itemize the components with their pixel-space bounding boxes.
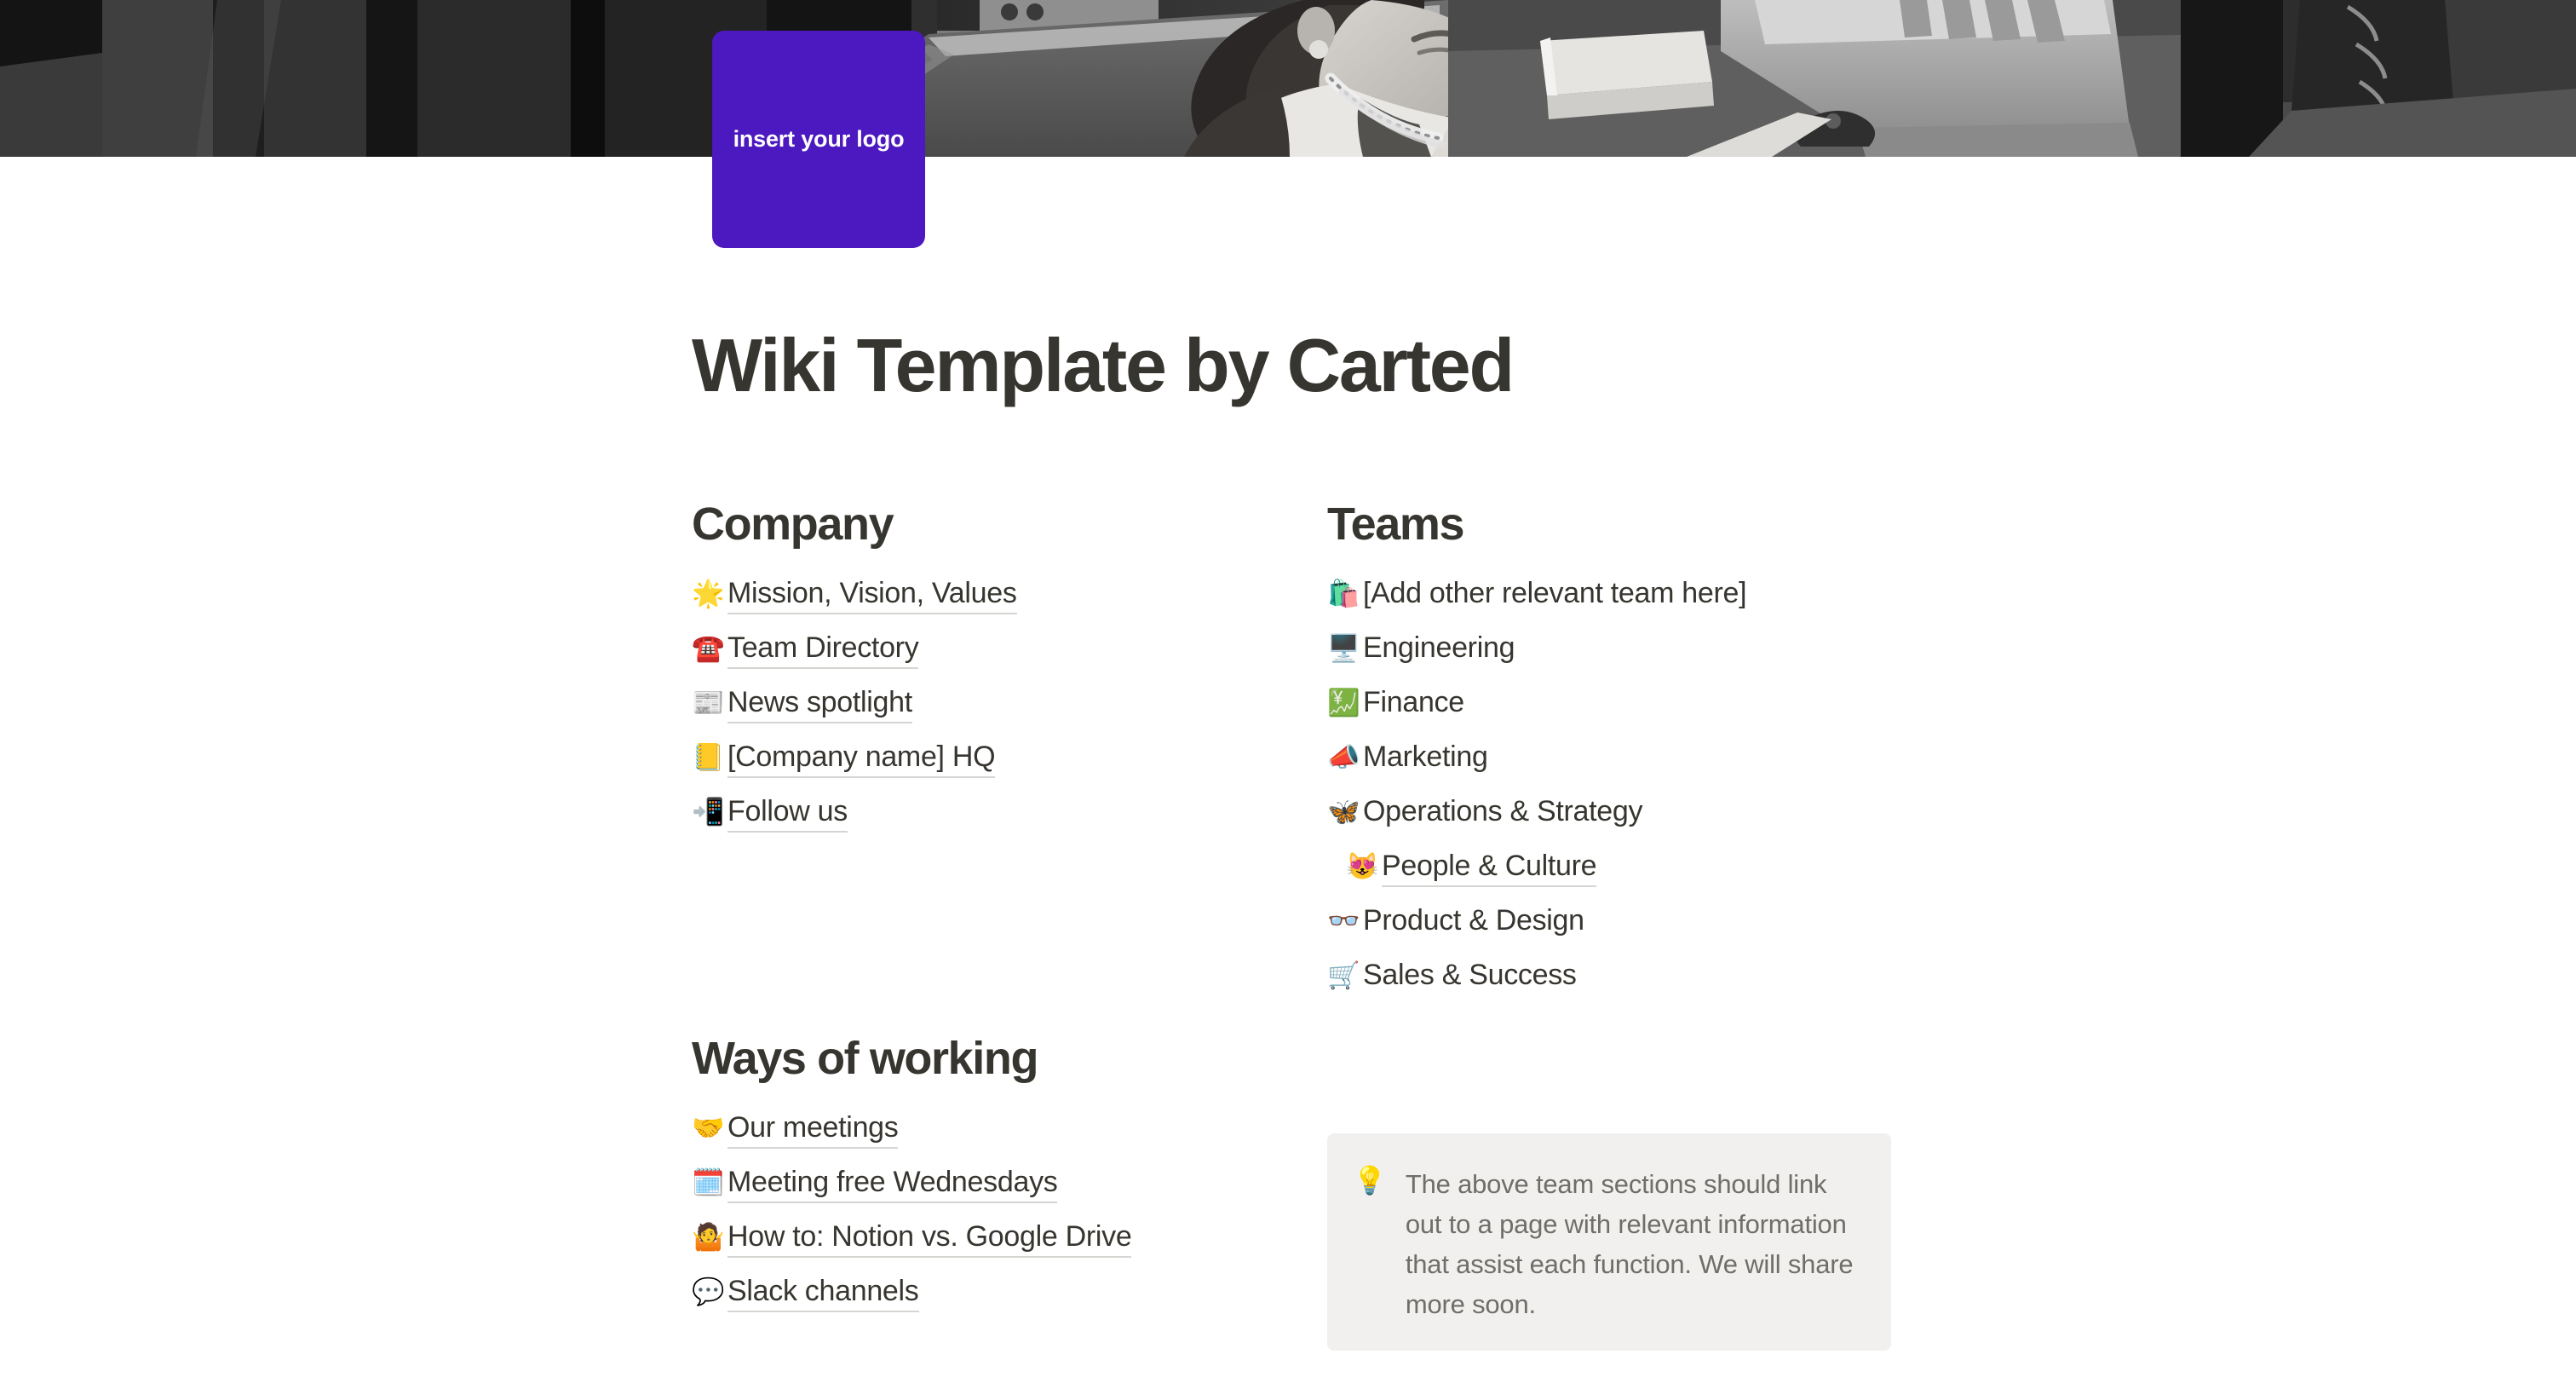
spiral-calendar-icon: 🗓️ (692, 1169, 727, 1196)
handshake-icon: 🤝 (692, 1115, 727, 1141)
banner-photo (0, 0, 2576, 157)
ledger-icon: 📒 (692, 744, 727, 770)
shopping-bags-icon: 🛍️ (1327, 580, 1363, 607)
mobile-phone-with-arrow-icon: 📲 (692, 798, 727, 825)
megaphone-icon: 📣 (1327, 744, 1363, 770)
person-shrugging-icon: 🤷 (692, 1224, 727, 1250)
link-item-label: [Company name] HQ (727, 741, 995, 778)
link-list-company: 🌟Mission, Vision, Values☎️Team Directory… (692, 577, 1288, 850)
link-item[interactable]: 🤷How to: Notion vs. Google Drive (692, 1220, 1288, 1275)
link-item[interactable]: 😻People & Culture (1327, 850, 1923, 904)
link-list-ways-of-working: 🤝Our meetings🗓️Meeting free Wednesdays🤷H… (692, 1111, 1288, 1329)
link-item-label: Our meetings (727, 1111, 898, 1149)
telephone-icon: ☎️ (692, 635, 727, 661)
link-item[interactable]: 🛒Sales & Success (1327, 959, 1923, 1013)
section-teams: Teams 🛍️[Add other relevant team here]🖥️… (1327, 499, 1923, 1013)
link-item[interactable]: 🖥️Engineering (1327, 631, 1923, 686)
link-item-label: Marketing (1363, 741, 1488, 776)
link-item-label: How to: Notion vs. Google Drive (727, 1220, 1131, 1258)
smiling-cat-with-heart-eyes-icon: 😻 (1346, 853, 1382, 879)
section-ways-of-working: Ways of working 🤝Our meetings🗓️Meeting f… (692, 1034, 1288, 1329)
link-item[interactable]: 🛍️[Add other relevant team here] (1327, 577, 1923, 631)
speech-balloon-icon: 💬 (692, 1278, 727, 1305)
link-item-label: Product & Design (1363, 904, 1584, 940)
logo-placeholder[interactable]: insert your logo (712, 31, 925, 248)
link-item-label: Follow us (727, 795, 848, 833)
callout-box: 💡 The above team sections should link ou… (1327, 1133, 1891, 1351)
link-item[interactable]: 📒[Company name] HQ (692, 741, 1288, 795)
section-company: Company 🌟Mission, Vision, Values☎️Team D… (692, 499, 1288, 850)
section-heading-company: Company (692, 499, 1288, 550)
glasses-icon: 👓 (1327, 908, 1363, 934)
link-item[interactable]: 💬Slack channels (692, 1275, 1288, 1329)
link-item-label: News spotlight (727, 686, 912, 723)
page-cover-banner (0, 0, 2576, 157)
page-title[interactable]: Wiki Template by Carted (692, 322, 1513, 409)
link-item[interactable]: 🤝Our meetings (692, 1111, 1288, 1166)
link-item[interactable]: 📰News spotlight (692, 686, 1288, 741)
glowing-star-icon: 🌟 (692, 580, 727, 607)
link-item-label: Meeting free Wednesdays (727, 1166, 1057, 1203)
link-item[interactable]: 🦋Operations & Strategy (1327, 795, 1923, 850)
link-item-label: Team Directory (727, 631, 918, 669)
butterfly-icon: 🦋 (1327, 798, 1363, 825)
link-item[interactable]: 💹Finance (1327, 686, 1923, 741)
link-item[interactable]: 📣Marketing (1327, 741, 1923, 795)
chart-increasing-with-yen-icon: 💹 (1327, 689, 1363, 716)
link-item-label: Mission, Vision, Values (727, 577, 1017, 614)
link-item-label: Sales & Success (1363, 959, 1577, 994)
link-item[interactable]: 🗓️Meeting free Wednesdays (692, 1166, 1288, 1220)
link-item-label: Slack channels (727, 1275, 919, 1312)
logo-text: insert your logo (733, 126, 905, 153)
link-item-label: Finance (1363, 686, 1464, 722)
link-item[interactable]: ☎️Team Directory (692, 631, 1288, 686)
link-list-teams: 🛍️[Add other relevant team here]🖥️Engine… (1327, 577, 1923, 1013)
newspaper-icon: 📰 (692, 689, 727, 716)
shopping-cart-icon: 🛒 (1327, 962, 1363, 988)
link-item-label: Operations & Strategy (1363, 795, 1642, 831)
link-item-label: [Add other relevant team here] (1363, 577, 1746, 613)
link-item-label: Engineering (1363, 631, 1515, 667)
link-item-label: People & Culture (1382, 850, 1596, 887)
link-item[interactable]: 👓Product & Design (1327, 904, 1923, 959)
link-item[interactable]: 🌟Mission, Vision, Values (692, 577, 1288, 631)
section-heading-ways-of-working: Ways of working (692, 1034, 1288, 1084)
callout-text: The above team sections should link out … (1406, 1164, 1862, 1320)
desktop-computer-icon: 🖥️ (1327, 635, 1363, 661)
section-heading-teams: Teams (1327, 499, 1923, 550)
wiki-page: insert your logo Wiki Template by Carted… (0, 0, 2576, 1389)
light-bulb-icon: 💡 (1353, 1164, 1387, 1320)
link-item[interactable]: 📲Follow us (692, 795, 1288, 850)
